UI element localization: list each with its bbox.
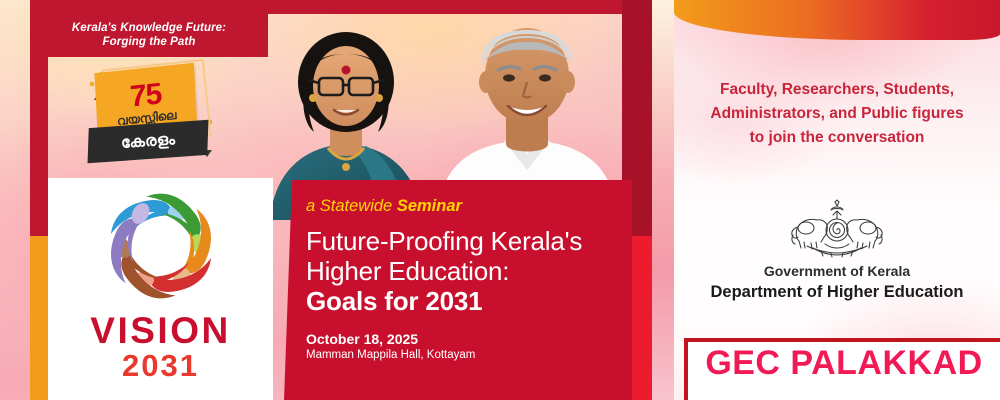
kerala-state-emblem-icon xyxy=(787,198,887,260)
seminar-date: October 18, 2025 xyxy=(306,331,626,348)
poster-image: Kerala's Knowledge Future: Forging the P… xyxy=(0,0,1000,400)
vision-year: 2031 xyxy=(122,350,199,382)
badge-malayalam-large: കേരളം xyxy=(120,131,175,153)
ribbon-banner: Kerala's Knowledge Future: Forging the P… xyxy=(30,14,268,57)
seminar-title-line-1: Future-Proofing Kerala's xyxy=(306,226,626,256)
portrait-man xyxy=(432,14,622,204)
audience-line-3: to join the conversation xyxy=(688,126,986,150)
vision-logo-card: VISION 2031 xyxy=(48,178,273,400)
audience-line-2: Administrators, and Public figures xyxy=(688,102,986,126)
seminar-title: Future-Proofing Kerala's Higher Educatio… xyxy=(306,226,626,316)
gec-palakkad-label: GEC PALAKKAD xyxy=(684,340,1000,386)
seminar-title-line-3: Goals for 2031 xyxy=(306,286,626,316)
seminar-kicker-light: a Statewide xyxy=(306,197,397,215)
government-label: Government of Kerala xyxy=(674,262,1000,281)
badge-black-plate: കേരളം xyxy=(88,120,209,164)
divider-pink-strip xyxy=(652,0,674,400)
divider-bright-red xyxy=(640,236,652,400)
seminar-kicker: a Statewide Seminar xyxy=(306,196,626,216)
seminar-kicker-bold: Seminar xyxy=(397,197,462,215)
divider-dark-red xyxy=(640,0,652,236)
ribbon-line-1: Kerala's Knowledge Future: xyxy=(72,22,226,36)
seventyfive-badge: 75 വയസ്സിലെ കേരളം xyxy=(88,58,218,173)
audience-line-1: Faculty, Researchers, Students, xyxy=(688,78,986,102)
department-label: Department of Higher Education xyxy=(674,281,1000,303)
ribbon-line-2: Forging the Path xyxy=(103,36,196,50)
vision-logo-mark xyxy=(90,188,232,310)
right-panel: Faculty, Researchers, Students, Administ… xyxy=(674,0,1000,400)
seminar-text-group: a Statewide Seminar Future-Proofing Kera… xyxy=(306,196,626,363)
seminar-title-line-2: Higher Education: xyxy=(306,256,626,286)
left-panel: Kerala's Knowledge Future: Forging the P… xyxy=(0,0,640,400)
spark-dot-1 xyxy=(89,81,94,86)
vision-word: VISION xyxy=(90,312,230,350)
top-red-border xyxy=(30,0,640,14)
badge-number: 75 xyxy=(129,80,162,111)
seminar-venue: Mamman Mappila Hall, Kottayam xyxy=(306,348,626,363)
audience-text: Faculty, Researchers, Students, Administ… xyxy=(688,78,986,150)
